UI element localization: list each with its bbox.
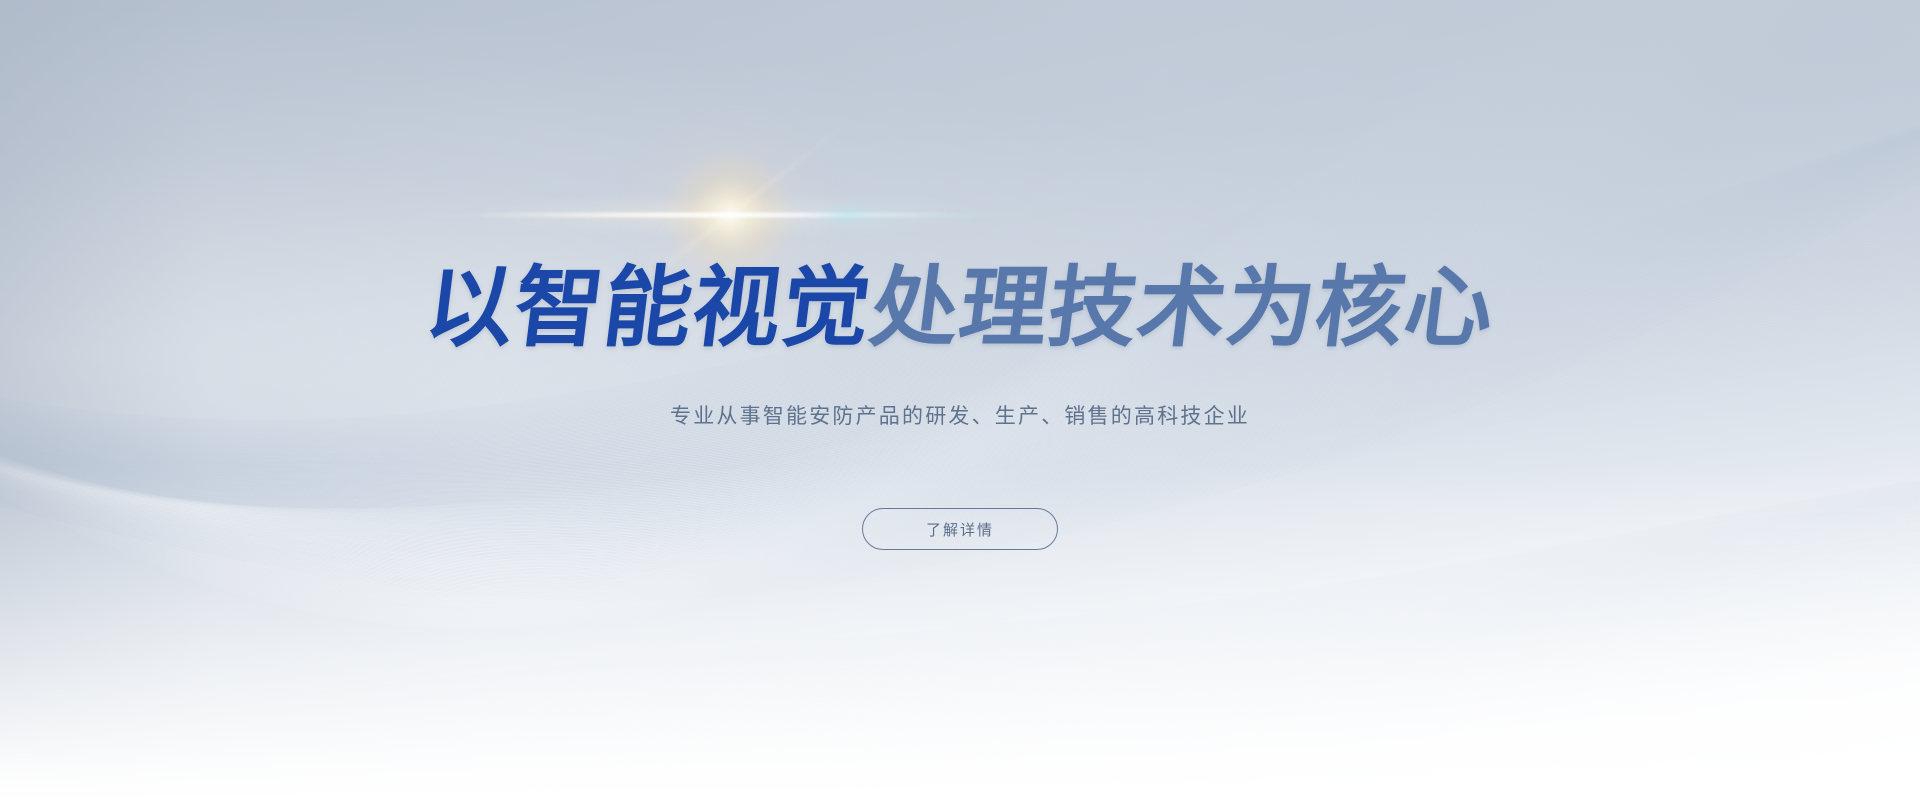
page-title: 以智能视觉处理技术为核心 <box>421 264 1500 352</box>
page-title-primary: 以智能视觉 <box>420 258 877 357</box>
hero-banner: 以智能视觉处理技术为核心 专业从事智能安防产品的研发、生产、销售的高科技企业 了… <box>0 0 1920 800</box>
hero-content: 以智能视觉处理技术为核心 专业从事智能安防产品的研发、生产、销售的高科技企业 了… <box>0 0 1920 800</box>
learn-more-button[interactable]: 了解详情 <box>862 508 1058 550</box>
page-title-secondary: 处理技术为核心 <box>865 258 1500 357</box>
page-subtitle: 专业从事智能安防产品的研发、生产、销售的高科技企业 <box>670 400 1250 430</box>
